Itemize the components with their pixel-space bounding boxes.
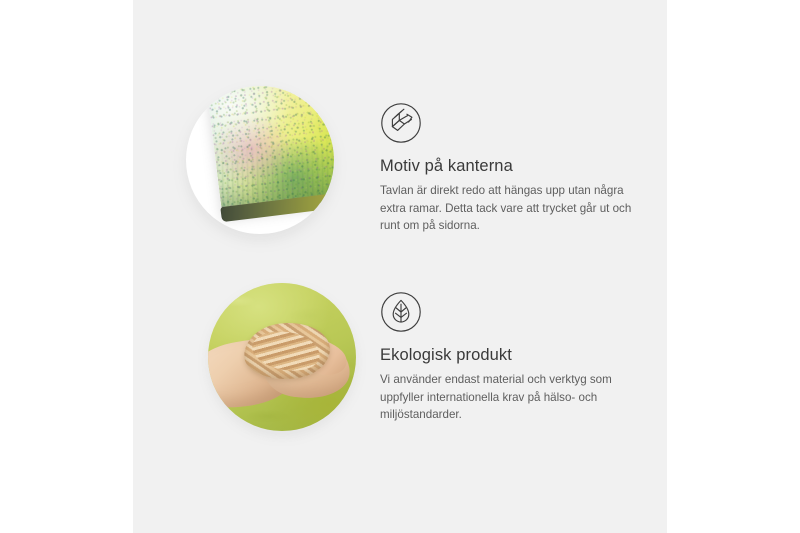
canvas-print-photo xyxy=(186,86,334,234)
meadow-background xyxy=(208,283,356,431)
promo-banner: Motiv på kanterna Tavlan är direkt redo … xyxy=(0,0,800,533)
canvas-wrap-edge-icon xyxy=(380,102,422,144)
canvas-print-face xyxy=(207,86,334,215)
feature-body: Tavlan är direkt redo att hängas upp uta… xyxy=(380,182,648,235)
feature-block-edges: Motiv på kanterna Tavlan är direkt redo … xyxy=(133,84,667,259)
canvas-print-illustration xyxy=(186,86,334,234)
feature-block-eco: Ekologisk produkt Vi använder endast mat… xyxy=(133,275,667,450)
feature-text-eco: Ekologisk produkt Vi använder endast mat… xyxy=(380,291,655,424)
feature-title: Ekologisk produkt xyxy=(380,345,655,365)
content-panel: Motiv på kanterna Tavlan är direkt redo … xyxy=(133,0,667,533)
feature-title: Motiv på kanterna xyxy=(380,156,655,176)
leaf-icon xyxy=(380,291,422,333)
feature-body: Vi använder endast material och verktyg … xyxy=(380,371,648,424)
feature-text-edges: Motiv på kanterna Tavlan är direkt redo … xyxy=(380,102,655,235)
wood-chips-in-hands-photo xyxy=(208,283,356,431)
